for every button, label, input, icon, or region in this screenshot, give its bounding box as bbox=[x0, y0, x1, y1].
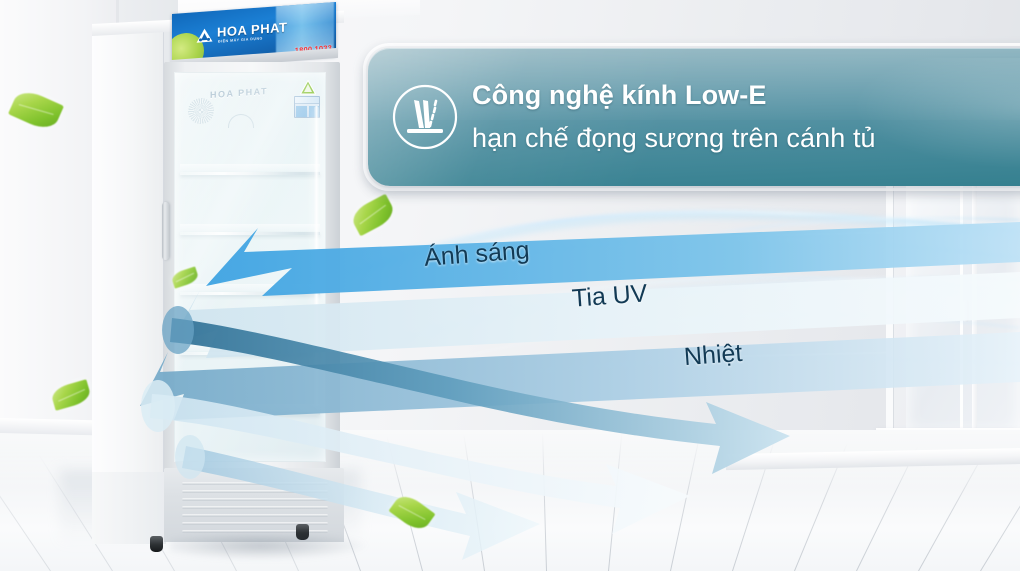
louver bbox=[182, 498, 328, 501]
louver bbox=[182, 506, 328, 509]
hoa-phat-logo-icon bbox=[196, 27, 213, 43]
refrigerator: HOA PHAT ĐIỆN MÁY GIA DỤNG 1800 1033 HOA… bbox=[92, 6, 344, 562]
window-mullion bbox=[972, 186, 977, 434]
fridge-floor-shadow bbox=[170, 534, 370, 560]
banner-text-block: Công nghệ kính Low-E hạn chế đọng sương … bbox=[472, 74, 1020, 160]
glass-etched-logo: HOA PHAT bbox=[210, 86, 268, 100]
shelf bbox=[180, 292, 320, 295]
fridge-glass-door: HOA PHAT bbox=[174, 72, 326, 462]
louver bbox=[182, 490, 328, 493]
ray-label-heat: Nhiệt bbox=[683, 339, 743, 372]
louver bbox=[182, 514, 328, 517]
energy-label-header bbox=[295, 97, 319, 104]
feature-banner: Công nghệ kính Low-E hạn chế đọng sương … bbox=[368, 48, 1020, 186]
eco-triangle-badge-icon bbox=[300, 80, 316, 95]
louver bbox=[182, 482, 328, 485]
fan-grille-graphic bbox=[188, 98, 214, 124]
banner-headline: Công nghệ kính Low-E bbox=[472, 74, 1020, 116]
banner-subline: hạn chế đọng sương trên cánh tủ bbox=[472, 116, 1020, 160]
fridge-left-side-panel bbox=[92, 30, 164, 542]
shelf bbox=[180, 352, 320, 355]
fridge-door-handle bbox=[162, 202, 169, 260]
led-light-tube bbox=[314, 106, 319, 406]
fridge-base-grille bbox=[164, 468, 344, 542]
ray-label-uv: Tia UV bbox=[571, 279, 648, 313]
fridge-base-side bbox=[92, 472, 166, 544]
caster-wheel bbox=[150, 536, 163, 552]
low-e-glass-icon bbox=[390, 82, 460, 152]
shelf bbox=[180, 172, 320, 175]
shelf bbox=[180, 412, 320, 415]
arc-graphic bbox=[228, 114, 254, 128]
scene-stage: HOA PHAT ĐIỆN MÁY GIA DỤNG 1800 1033 HOA… bbox=[0, 0, 1020, 571]
shelf bbox=[180, 232, 320, 235]
window-handle bbox=[963, 300, 969, 322]
